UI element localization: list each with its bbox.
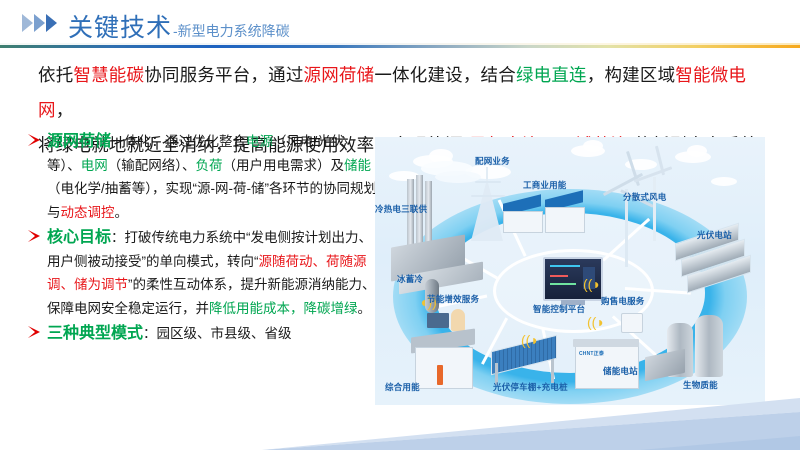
text-run: ：园区级、市县级、省级 — [143, 326, 292, 341]
desktop-monitor-icon — [427, 313, 449, 328]
intro-highlight-source-grid-load-storage: 源网荷储 — [304, 65, 375, 85]
diagram-label-biomass: 生物质能 — [683, 379, 718, 391]
diagram-label-pv-carport: 光伏停车棚+充电桩 — [493, 381, 568, 393]
intro-text: ，构建区域 — [587, 65, 676, 85]
text-run: 。 — [358, 301, 372, 316]
signal-icon: ((◗ — [587, 315, 605, 329]
chevron-right-icon — [34, 14, 45, 32]
cloud-icon — [583, 140, 603, 152]
diagram-label-pv-station: 光伏电站 — [697, 229, 732, 241]
house-door — [437, 365, 443, 385]
bullet-heading: 核心目标 — [47, 229, 111, 246]
diagram-label-efficiency-service: 节能增效服务 — [427, 293, 479, 305]
chevron-group-icon — [22, 14, 57, 32]
tower-crossarm — [471, 195, 505, 197]
bullet-list: 源网荷储一体化：通过优化整合电源（风电/光伏等）、电网（输配网络）、负荷（用户用… — [28, 130, 378, 348]
brand-label: CHNT正泰 — [579, 350, 604, 357]
text-run: 降低用能成本，降碳增绿 — [209, 301, 358, 316]
red-arrow-icon — [28, 230, 40, 242]
diagram-label-distributed-wind: 分散式风电 — [623, 191, 667, 203]
meter-icon — [621, 313, 643, 333]
wind-turbine-mast — [653, 177, 656, 241]
list-item: 三种典型模式：园区级、市县级、省级 — [28, 322, 378, 346]
diagram-label-storage-station: 储能电站 — [603, 365, 638, 377]
intro-text: 一体化建设，结合 — [374, 65, 516, 85]
smoke-plume-icon — [435, 171, 481, 183]
title-block: 关键技术 -新型电力系统降碳 — [68, 8, 290, 44]
storage-station-roof — [573, 339, 639, 347]
system-diagram: CHNT正泰 ◖)) ((◗ ((◗ ((◗ 配网业务 工商业用能 分散式风电 … — [375, 137, 765, 405]
list-item: 源网荷储一体化：通过优化整合电源（风电/光伏等）、电网（输配网络）、负荷（用户用… — [28, 130, 378, 224]
cooling-tower-icon — [695, 315, 723, 377]
transmission-tower-icon — [471, 179, 503, 241]
text-run: 动态调控 — [61, 205, 115, 220]
diagram-label-ice-storage: 冰蓄冷 — [397, 273, 423, 285]
signal-icon: ((◗ — [583, 277, 601, 291]
text-run: 电源 — [246, 134, 273, 149]
diagram-label-commercial-energy: 工商业用能 — [523, 179, 567, 191]
diagram-label-control-platform: 智能控制平台 — [533, 303, 585, 315]
text-run: 。 — [115, 205, 129, 220]
slide-header: 关键技术 -新型电力系统降碳 — [0, 0, 800, 48]
diagram-label-integrated-energy: 综合用能 — [385, 381, 420, 393]
page-title: 关键技术 — [68, 8, 172, 44]
screen-detail — [550, 283, 576, 285]
list-item: 核心目标：打破传统电力系统中“发电侧按计划出力、用户侧被动接受”的单向模式，转向… — [28, 226, 378, 320]
bullet-heading: 三种典型模式 — [47, 325, 143, 342]
intro-highlight-smart-carbon: 智慧能碳 — [73, 65, 144, 85]
page-subtitle: -新型电力系统降碳 — [173, 21, 290, 41]
building-body — [503, 211, 543, 233]
bullet-heading: 源网荷储 — [47, 133, 111, 150]
diagram-label-distribution-business: 配网业务 — [475, 155, 510, 167]
text-run: （用户用电需求）及 — [223, 158, 345, 173]
text-run: 一体化：通过优化整合 — [111, 134, 246, 149]
cloud-icon — [389, 171, 419, 181]
intro-text: ， — [56, 100, 74, 120]
text-run: 负荷 — [196, 158, 223, 173]
cloud-icon — [687, 145, 707, 157]
diagram-label-trigeneration: 冷热电三联供 — [375, 203, 427, 215]
intro-text: 依托 — [38, 65, 73, 85]
text-run: （输配网络）、 — [108, 158, 196, 173]
chevron-right-icon — [22, 14, 33, 32]
chevron-right-icon — [46, 14, 57, 32]
red-arrow-icon — [28, 134, 40, 146]
cloud-icon — [711, 177, 737, 186]
text-run: 电网 — [81, 158, 108, 173]
intro-text: 协同服务平台，通过 — [144, 65, 303, 85]
tower-crossarm — [475, 181, 501, 183]
operator-avatar-icon — [451, 309, 465, 331]
house-body — [415, 347, 473, 389]
signal-icon: ((◗ — [521, 333, 539, 347]
red-arrow-icon — [28, 326, 40, 338]
diagram-label-power-trading: 购售电服务 — [601, 295, 645, 307]
screen-detail — [550, 265, 580, 267]
building-body — [545, 207, 585, 233]
bullet-body: ：园区级、市县级、省级 — [143, 326, 292, 341]
screen-detail — [550, 275, 568, 277]
carport-post — [551, 359, 554, 383]
header-rule — [0, 45, 800, 48]
intro-highlight-green-power: 绿电直连 — [516, 65, 587, 85]
text-run: 储能 — [344, 158, 371, 173]
